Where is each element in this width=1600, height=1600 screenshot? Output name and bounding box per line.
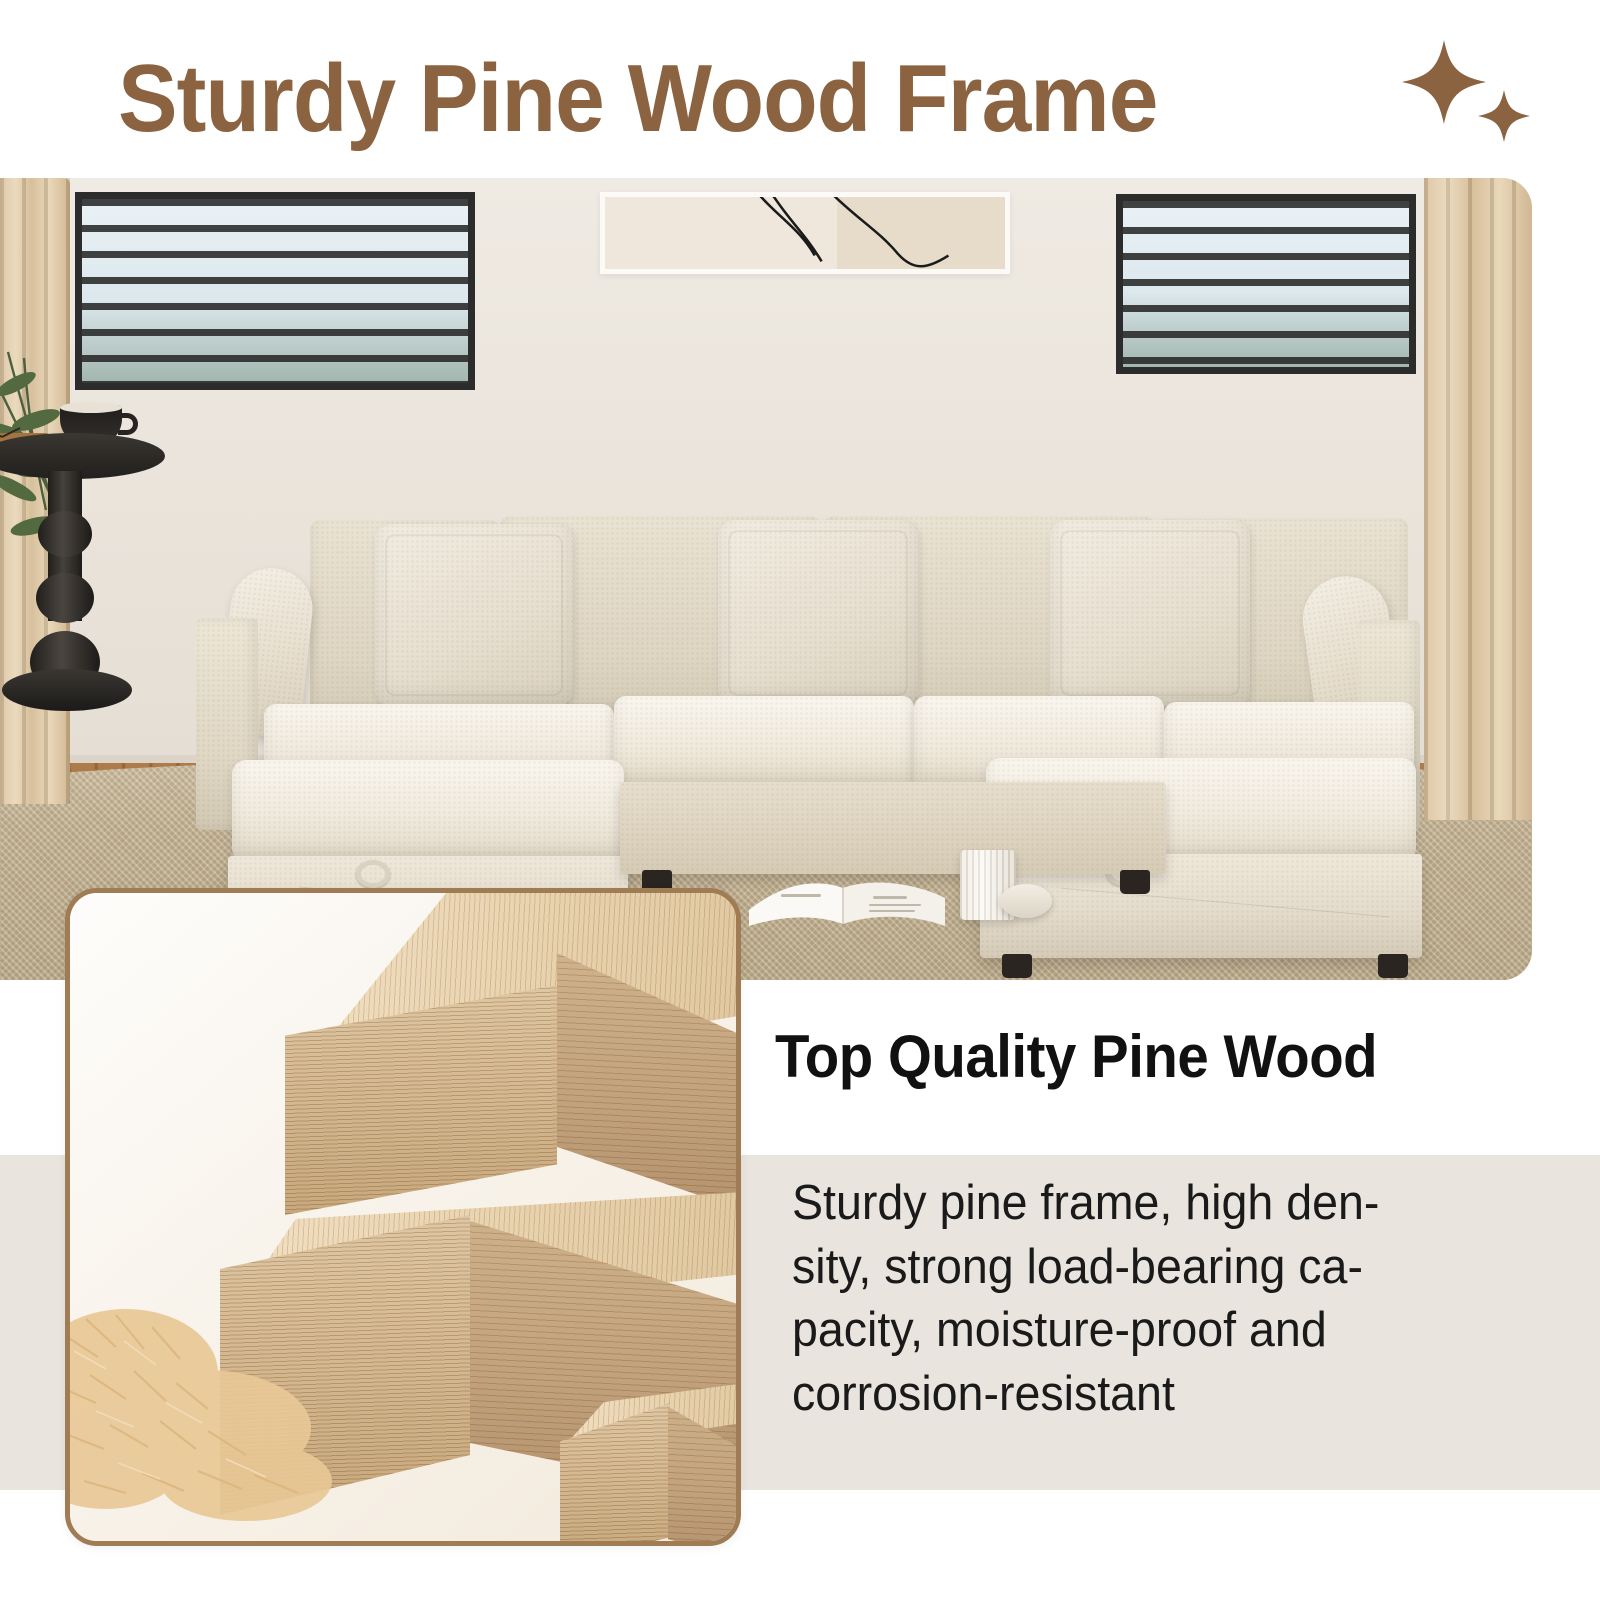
curtain-right (1424, 178, 1532, 820)
abstract-line-art (600, 192, 1010, 274)
body-line-2: sity, strong load-bearing ca- (792, 1236, 1543, 1300)
throw-pillow-1 (375, 524, 573, 706)
throw-pillow-3 (1050, 520, 1250, 706)
chaise-cushion-left (232, 760, 624, 862)
storage-pull-ring-left[interactable] (356, 860, 390, 888)
cup-rim (60, 402, 122, 413)
seat-cushion-center-1 (614, 696, 914, 788)
page-title: Sturdy Pine Wood Frame (118, 51, 1157, 147)
window-right (1116, 194, 1416, 374)
table-knob-upper (38, 511, 92, 557)
pine-wood-closeup-photo (65, 888, 741, 1546)
side-table (0, 433, 165, 733)
throw-pillow-2 (718, 520, 918, 706)
section-body-copy: Sturdy pine frame, high den- sity, stron… (792, 1172, 1543, 1427)
candle-lid (1000, 884, 1052, 918)
section-subtitle: Top Quality Pine Wood (775, 1022, 1518, 1091)
sofa-leg-6 (1378, 954, 1408, 978)
body-line-3: pacity, moisture-proof and (792, 1299, 1543, 1363)
sofa-leg-4 (1120, 870, 1150, 894)
body-line-4: corrosion-resistant (792, 1363, 1543, 1427)
table-knob-mid (36, 573, 94, 623)
sofa-base-center (620, 782, 1166, 874)
sawdust-pile (65, 1223, 366, 1523)
sofa-leg-5 (1002, 954, 1032, 978)
body-line-1: Sturdy pine frame, high den- (792, 1172, 1543, 1236)
hero-product-photo (0, 178, 1532, 980)
table-top (0, 433, 165, 479)
table-base (2, 669, 132, 711)
headline-row: Sturdy Pine Wood Frame (0, 34, 1600, 164)
window-blinds-right (1123, 201, 1409, 367)
open-book-prop (745, 868, 950, 930)
